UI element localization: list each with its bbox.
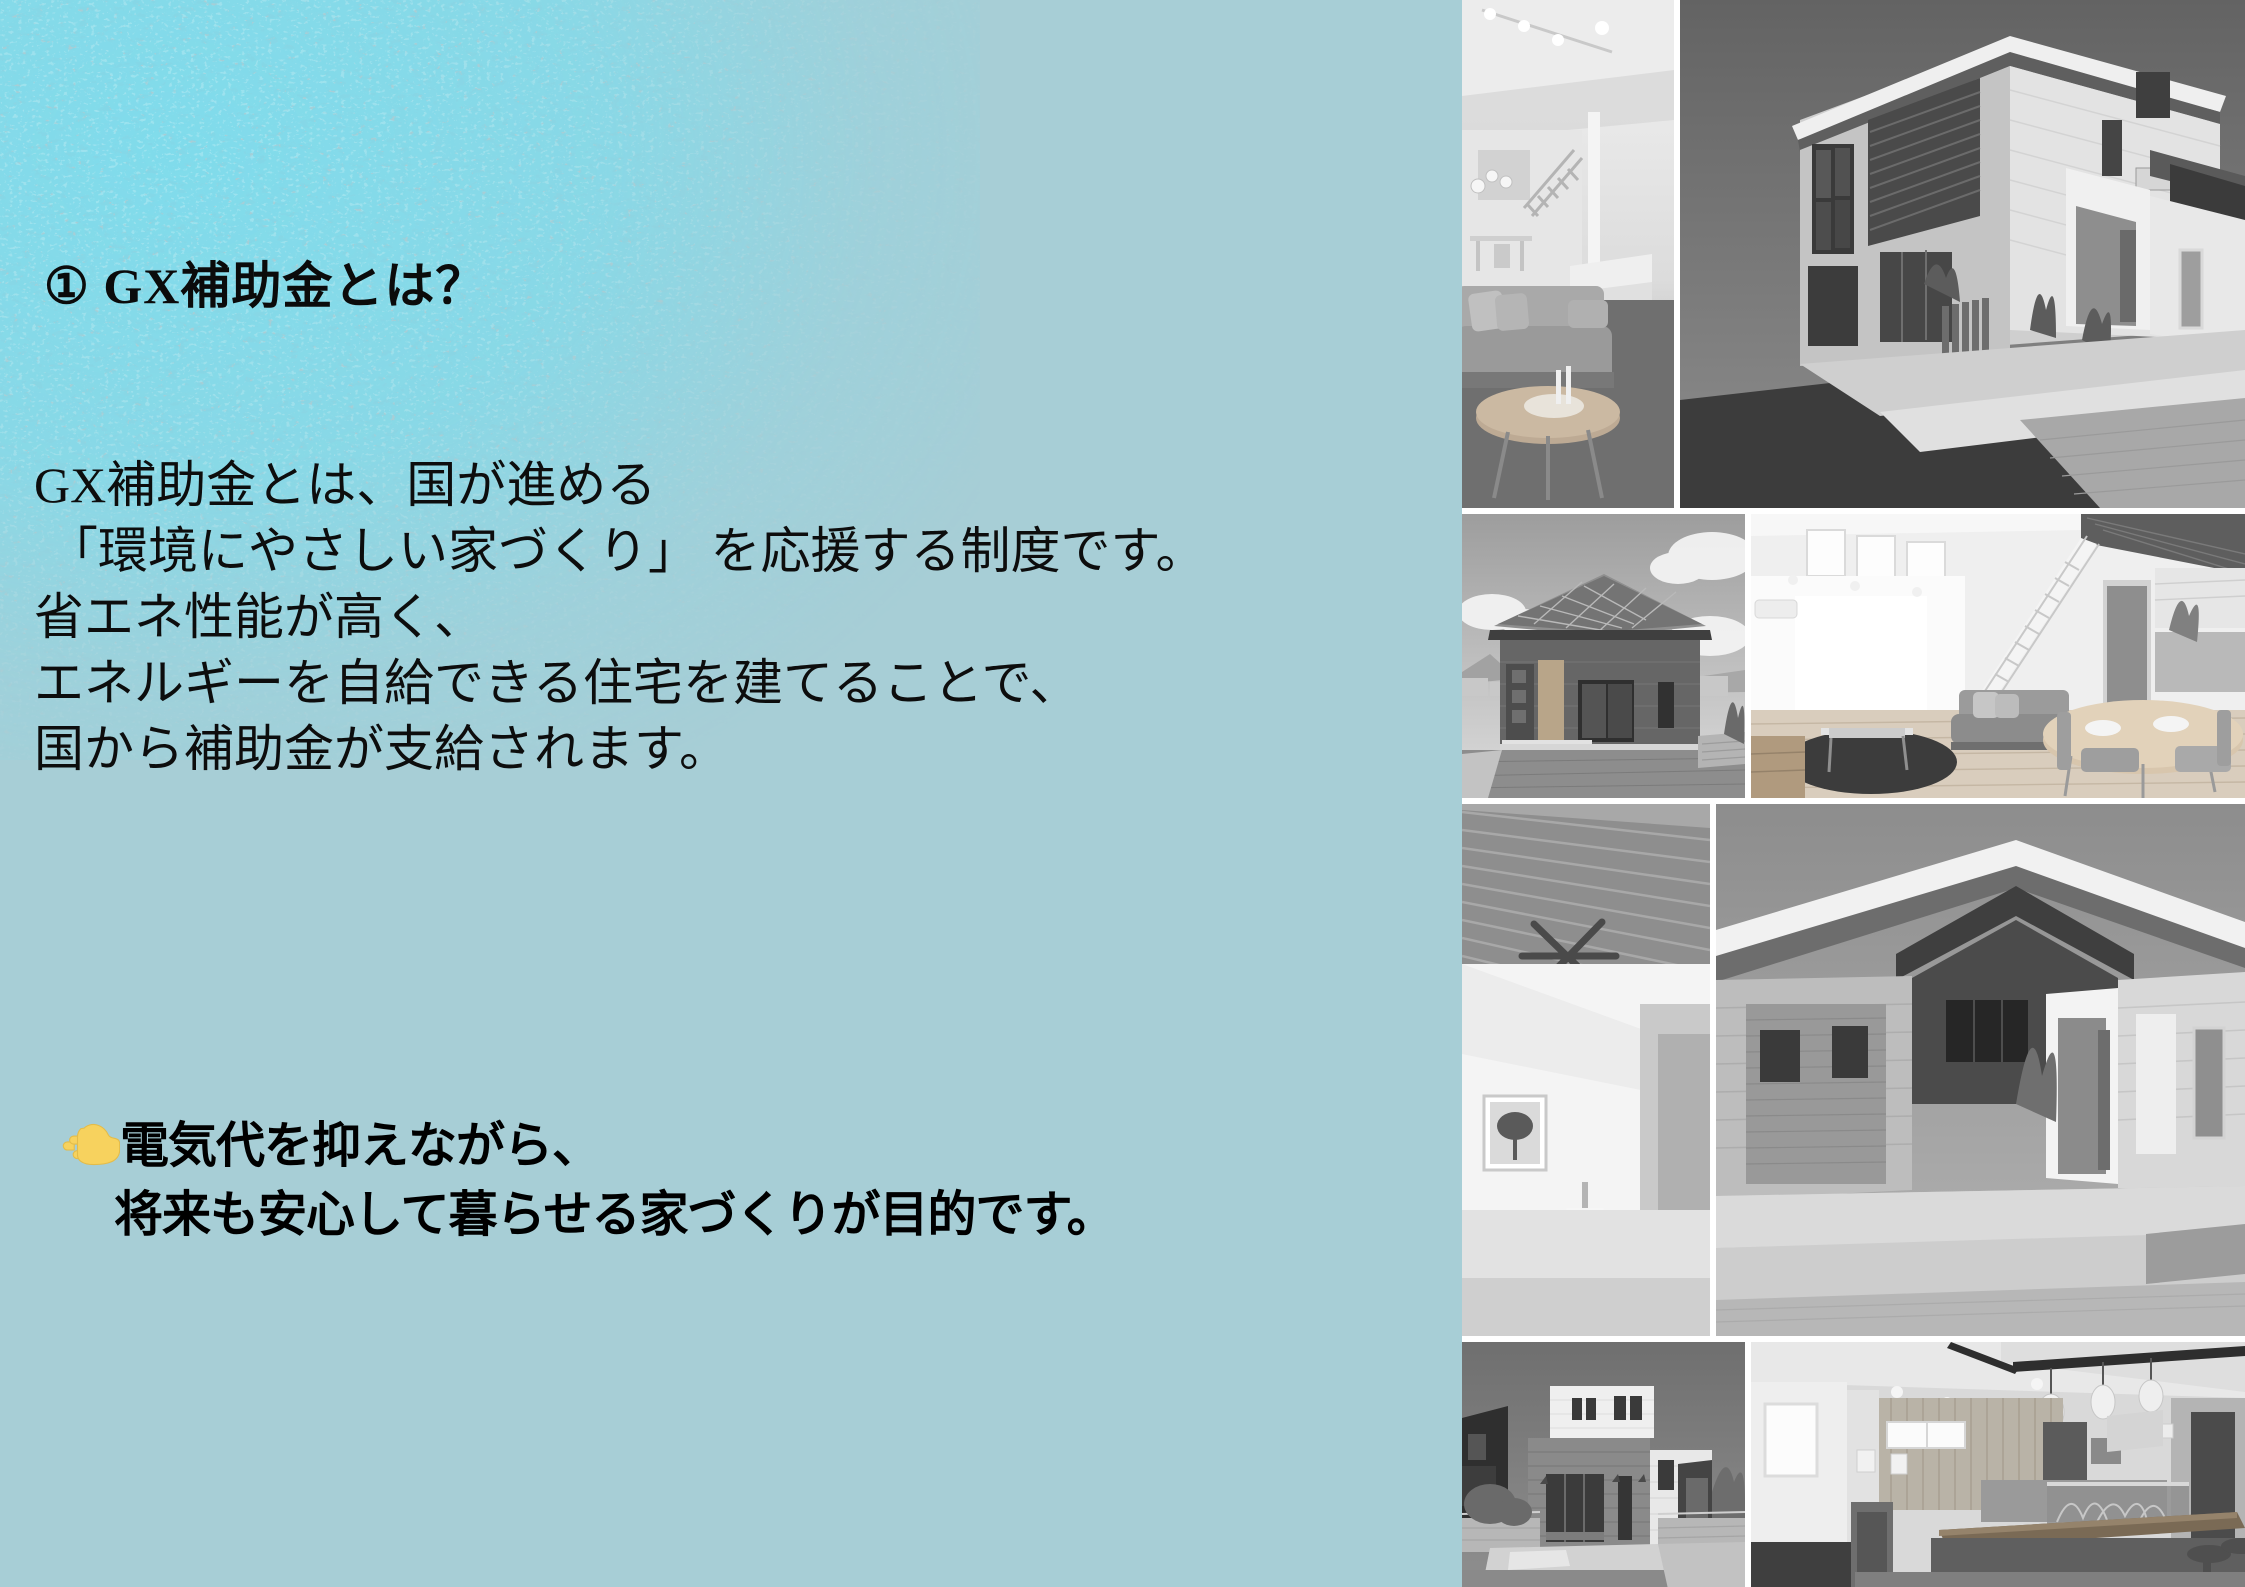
body-line-3: 省エネ性能が高く、 <box>34 584 1206 650</box>
body-paragraph: GX補助金とは、国が進める 「環境にやさしい家づくり」 を応援する制度です。 省… <box>34 452 1206 782</box>
body-line-5: 国から補助金が支給されます。 <box>34 716 1206 782</box>
vaulted-wood-ceiling-interior-photo <box>1462 804 1710 1336</box>
page-title: ① GX補助金とは？ <box>44 246 486 318</box>
kitchen-counter-pendant-lights-photo <box>1751 1342 2245 1587</box>
slide-canvas: ① GX補助金とは？ GX補助金とは、国が進める 「環境にやさしい家づくり」 を… <box>0 0 2245 1587</box>
gabled-house-exterior-photo <box>1716 804 2245 1336</box>
left-text-panel: ① GX補助金とは？ GX補助金とは、国が進める 「環境にやさしい家づくり」 を… <box>0 0 1462 1587</box>
pointing-hand-right-icon <box>62 1122 120 1174</box>
solar-panel-house-exterior-photo <box>1462 514 1745 798</box>
body-line-4: エネルギーを自給できる住宅を建てることで、 <box>34 650 1206 716</box>
callout-line-2-row: 将来も安心して暮らせる家づくりが目的です。 <box>62 1181 1115 1250</box>
body-line-1: GX補助金とは、国が進める <box>34 452 1206 518</box>
photo-grid-row-2 <box>1462 514 2245 798</box>
callout-line-1-row: 電気代を抑えながら、 <box>62 1112 1115 1181</box>
photo-grid-row-3 <box>1462 804 2245 1336</box>
photo-grid <box>1462 0 2245 1587</box>
photo-grid-row-4 <box>1462 1342 2245 1587</box>
photo-grid-row-1 <box>1462 0 2245 508</box>
body-line-2: 「環境にやさしい家づくり」 を応援する制度です。 <box>34 518 1206 584</box>
living-room-sofa-interior-photo <box>1462 0 1674 508</box>
callout-text-block: 電気代を抑えながら、 将来も安心して暮らせる家づくりが目的です。 <box>62 1112 1115 1249</box>
callout-line-2: 将来も安心して暮らせる家づくりが目的です。 <box>114 1181 1115 1250</box>
high-ceiling-living-dining-photo <box>1751 514 2245 798</box>
callout-line-1: 電気代を抑えながら、 <box>120 1112 600 1181</box>
modern-box-house-exterior-photo <box>1462 1342 1745 1587</box>
two-story-house-exterior-photo <box>1680 0 2245 508</box>
